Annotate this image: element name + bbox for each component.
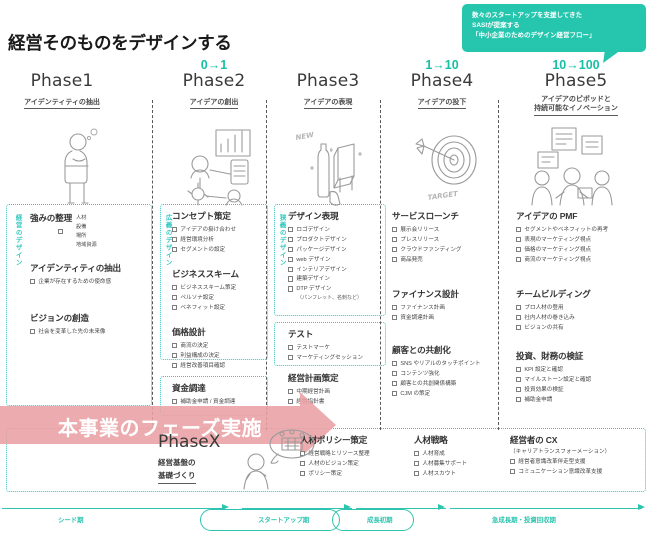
checkbox[interactable]: [288, 389, 293, 394]
check-label: 経営環境分析: [180, 236, 214, 244]
checkbox[interactable]: [288, 276, 293, 281]
block-phase4-finance: ファイナンス設計 ファイナンス計画 資金調達計画: [392, 288, 459, 324]
phase-subtitle-5-line-2: 持続可能なイノベーション: [534, 104, 618, 113]
phase-header-5: 10→100 Phase5 アイデアのピボッドと 持続可能なイノベーション: [506, 58, 646, 116]
target-icon: TARGET: [412, 126, 486, 208]
checkbox[interactable]: [172, 295, 177, 300]
checkbox[interactable]: [392, 247, 397, 252]
checkbox[interactable]: [172, 237, 177, 242]
check-label: 人材スカウト: [422, 470, 456, 478]
phase-name-5: Phase5: [506, 73, 646, 91]
check-label: 価格のマーケティング視点: [524, 246, 591, 254]
column-divider-4: [498, 100, 499, 430]
block-phase2-pricing: 価格設計 商流の決定 利益構成の決定 経営改善項目確認: [172, 326, 225, 372]
check-label: 商流のマーケティング視点: [524, 256, 591, 264]
phase-header-3: - Phase3 アイデアの表現: [272, 58, 384, 109]
block-phase3-test: テスト テストマーケ マーケティングセッション: [288, 328, 363, 364]
checkbox[interactable]: [172, 247, 177, 252]
phase-name-x: PhaseX: [158, 432, 220, 452]
check-label: セグメントやベネフィットの再考: [524, 226, 608, 234]
checkbox[interactable]: [30, 279, 35, 284]
block-phase1-identity: アイデンティティの抽出 企業が存在するための使命感: [30, 262, 150, 288]
callout-line-2: SASIが提案する: [472, 21, 638, 31]
block-heading: 経営者の CX: [510, 434, 610, 446]
check-label: 資金調達計画: [400, 314, 434, 322]
block-heading: チームビルディング: [516, 288, 591, 300]
check-label: CJM の策定: [400, 390, 430, 398]
block-heading: ビジネススキーム: [172, 268, 239, 280]
block-heading: 強みの整理: [30, 212, 72, 224]
block-heading: 資金調達: [172, 382, 235, 394]
block-phase2-scheme: ビジネススキーム ビジネススキーム策定 ペルソナ設定 ベネフィット設定: [172, 268, 239, 314]
check-label: マーケティングセッション: [296, 354, 363, 362]
checkbox[interactable]: [516, 315, 521, 320]
block-heading: 投資、財務の検証: [516, 350, 591, 362]
checkbox[interactable]: [392, 315, 397, 320]
block-heading: アイデアの PMF: [516, 210, 608, 222]
timeline-stage-2: スタートアップ期: [258, 515, 309, 524]
check-label: インテリアデザイン: [296, 266, 346, 274]
block-heading: テスト: [288, 328, 363, 340]
checkbox[interactable]: [516, 237, 521, 242]
block-note: （キャリアトランスフォーメーション）: [510, 447, 610, 455]
block-phase2-funding: 資金調達 補助金申請 / 資金調達: [172, 382, 235, 408]
check-label: 企業が存在するための使命感: [38, 278, 111, 286]
checkbox[interactable]: [172, 343, 177, 348]
checkbox[interactable]: [288, 267, 293, 272]
person-thinking-icon: [52, 126, 112, 208]
business-scheme-icon: [186, 126, 256, 208]
block-phase1-vision: ビジョンの創造 社会を変革した先の未来像: [30, 312, 150, 338]
check-label: パッケージデザイン: [296, 246, 346, 254]
check-label: ペルソナ設定: [180, 294, 214, 302]
svg-text:TARGET: TARGET: [427, 190, 459, 202]
checkbox[interactable]: [288, 237, 293, 242]
check-label: ベネフィット設定: [180, 304, 225, 312]
checkbox[interactable]: [414, 451, 419, 456]
check-label: プロ人材の登用: [524, 304, 563, 312]
block-heading: 人材戦略: [414, 434, 467, 446]
block-hr-strategy: 人材戦略 人材育成 人材募集サポート 人材スカウト: [414, 434, 467, 480]
checkbox[interactable]: [288, 247, 293, 252]
phase-name-2: Phase2: [158, 73, 270, 91]
check-label: ビジョンの共有: [524, 324, 563, 332]
checkbox[interactable]: [516, 325, 521, 330]
checkbox[interactable]: [392, 257, 397, 262]
checkbox[interactable]: [516, 227, 521, 232]
check-label: プロダクトデザイン: [296, 236, 346, 244]
check-label: コミュニケーション意識改革支援: [518, 468, 602, 476]
plain-item: 設備: [76, 223, 97, 232]
check-label: 展示会リリース: [400, 226, 439, 234]
phase-subtitle-1: アイデンティティの抽出: [24, 98, 100, 109]
check-label: 商品発売: [400, 256, 422, 264]
check-label: KPI 設定と確認: [524, 366, 563, 374]
block-heading: コンセプト策定: [172, 210, 236, 222]
checkbox[interactable]: [414, 461, 419, 466]
phase-name-4: Phase4: [386, 73, 498, 91]
checkbox[interactable]: [172, 305, 177, 310]
check-label: 投資効果の検証: [524, 386, 563, 394]
phase-header-1: - Phase1 アイデンティティの抽出: [6, 58, 118, 109]
callout-line-3: 「中小企業のためのデザイン経営フロー」: [472, 31, 638, 41]
checkbox[interactable]: [392, 361, 397, 366]
check-label: コンテンツ強化: [400, 370, 439, 378]
check-label: ファイナンス計画: [400, 304, 445, 312]
phase-subtitle-x-line-2: 基礎づくり: [158, 469, 196, 482]
check-label: 顧客との共創関係構築: [400, 380, 456, 388]
phase-subtitle-5-line-1: アイデアのピボッドと: [534, 95, 618, 104]
check-label: SNS やリアルのタッチポイント: [400, 360, 480, 368]
page-title: 経営そのものをデザインする: [8, 30, 232, 55]
callout-line-1: 数々のスタートアップを支援してきた: [472, 11, 638, 21]
block-phase4-cocreation: 顧客との共創化 SNS やリアルのタッチポイント コンテンツ強化 顧客との共創関…: [392, 344, 481, 400]
checkbox[interactable]: [172, 353, 177, 358]
check-label: ビジネススキーム策定: [180, 284, 236, 292]
phase-header-2: 0→1 Phase2 アイデアの創出: [158, 58, 270, 109]
checkbox[interactable]: [172, 227, 177, 232]
checkbox[interactable]: [516, 305, 521, 310]
check-label: テストマーケ: [296, 344, 330, 352]
checkbox[interactable]: [288, 399, 293, 404]
new-product-icon: NEW: [296, 126, 368, 208]
checkbox[interactable]: [288, 257, 293, 262]
check-label: web デザイン: [296, 256, 330, 264]
checkbox[interactable]: [288, 227, 293, 232]
phase-subtitle-x: 経営基盤の 基礎づくり: [158, 456, 196, 484]
svg-text:NEW: NEW: [295, 131, 315, 142]
checkbox[interactable]: [516, 387, 521, 392]
block-phase3-design: デザイン表現 ロゴデザイン プロダクトデザイン パッケージデザイン web デザ…: [288, 210, 362, 301]
checkbox[interactable]: [30, 329, 35, 334]
phase-subtitle-x-line-1: 経営基盤の: [158, 456, 196, 469]
block-heading: サービスローンチ: [392, 210, 462, 222]
callout-box: 数々のスタートアップを支援してきた SASIが提案する 「中小企業のためのデザイ…: [462, 4, 646, 52]
timeline-arrow-4: [638, 504, 645, 510]
check-label: 社会を変革した先の未来像: [38, 328, 105, 336]
checkbox[interactable]: [288, 355, 293, 360]
check-label: 表現のマーケティング視点: [524, 236, 591, 244]
block-phase2-concept: コンセプト策定 アイデアの掛け合わせ 経営環境分析 セグメントの設定: [172, 210, 236, 256]
checkbox[interactable]: [392, 305, 397, 310]
check-label: クラウドファンディング: [400, 246, 461, 254]
timeline-line-2: [242, 508, 352, 509]
check-label: 人材募集サポート: [422, 460, 467, 468]
timeline-stage-4: 急成長期・投資回収期: [492, 515, 556, 524]
checkbox[interactable]: [414, 471, 419, 476]
block-phase5-pmf: アイデアの PMF セグメントやベネフィットの再考 表現のマーケティング視点 価…: [516, 210, 608, 266]
timeline-stage-3: 成長初期: [367, 515, 393, 524]
block-ceo-cx: 経営者の CX （キャリアトランスフォーメーション） 経営者意識改革伴走型支援 …: [510, 434, 610, 478]
timeline-line-1: [2, 508, 224, 509]
plain-item: 場所: [76, 232, 97, 241]
check-label: 商流の決定: [180, 342, 208, 350]
check-label: セグメントの設定: [180, 246, 225, 254]
block-heading: 経営計画策定: [288, 372, 338, 384]
checkbox[interactable]: [516, 247, 521, 252]
block-heading: ビジョンの創造: [30, 312, 150, 324]
check-label: DTP デザイン: [296, 285, 331, 293]
timeline-stage-1: シード期: [58, 515, 84, 524]
checkbox[interactable]: [516, 377, 521, 382]
block-heading: アイデンティティの抽出: [30, 262, 150, 274]
checkbox[interactable]: [516, 397, 521, 402]
team-discussion-icon: [524, 126, 624, 208]
check-label: アイデアの掛け合わせ: [180, 226, 236, 234]
checkbox[interactable]: [516, 257, 521, 262]
phase-subtitle-4: アイデアの投下: [418, 98, 467, 109]
checkbox[interactable]: [172, 285, 177, 290]
phase-name-1: Phase1: [6, 73, 118, 91]
check-label: 経営改善項目確認: [180, 362, 225, 370]
block-heading: 価格設計: [172, 326, 225, 338]
timeline-line-4: [450, 508, 642, 509]
timeline-arrow-3: [438, 504, 445, 510]
plain-item: 地域資源: [76, 241, 97, 250]
checkbox[interactable]: [510, 469, 515, 474]
block-note: （パンフレット、名刺など）: [288, 294, 362, 301]
block-heading: ファイナンス設計: [392, 288, 459, 300]
check-label: 社内人材の巻き込み: [524, 314, 574, 322]
block-heading: デザイン表現: [288, 210, 362, 222]
column-divider-1: [152, 100, 153, 430]
person-idea-icon: [238, 428, 318, 490]
check-label: 経営者意識改革伴走型支援: [518, 458, 585, 466]
phase-subtitle-5: アイデアのピボッドと 持続可能なイノベーション: [534, 95, 618, 116]
checkbox[interactable]: [516, 367, 521, 372]
checkbox[interactable]: [172, 363, 177, 368]
checkbox[interactable]: [392, 227, 397, 232]
checkbox[interactable]: [172, 399, 177, 404]
phase-name-3: Phase3: [272, 73, 384, 91]
plain-item: 人材: [76, 214, 97, 223]
check-label: 人材育成: [422, 450, 444, 458]
checkbox[interactable]: [510, 459, 515, 464]
checkbox[interactable]: [392, 371, 397, 376]
check-label: ロゴデザイン: [296, 226, 330, 234]
timeline-line-3: [356, 508, 446, 509]
block-heading: 顧客との共創化: [392, 344, 481, 356]
check-label: プレスリリース: [400, 236, 439, 244]
block-phase5-investment: 投資、財務の検証 KPI 設定と確認 マイルストーン設定と確認 投資効果の検証 …: [516, 350, 591, 406]
check-label: 補助金申請: [524, 396, 552, 404]
check-label: 利益構成の決定: [180, 352, 219, 360]
block-phase1-strengths: 強みの整理 人材 設備 場所 地域資源: [30, 212, 150, 250]
block-phase4-launch: サービスローンチ 展示会リリース プレスリリース クラウドファンディング 商品発…: [392, 210, 462, 266]
checkbox[interactable]: [58, 229, 63, 234]
checkbox[interactable]: [392, 381, 397, 386]
checkbox[interactable]: [392, 237, 397, 242]
phase-subtitle-3: アイデアの表現: [304, 98, 353, 109]
check-label: 建築デザイン: [296, 275, 330, 283]
checkbox[interactable]: [392, 391, 397, 396]
checkbox[interactable]: [288, 345, 293, 350]
checkbox[interactable]: [288, 286, 293, 291]
block-phase5-team: チームビルディング プロ人材の登用 社内人材の巻き込み ビジョンの共有: [516, 288, 591, 334]
check-label: マイルストーン設定と確認: [524, 376, 591, 384]
phase-header-4: 1→10 Phase4 アイデアの投下: [386, 58, 498, 109]
phase-subtitle-2: アイデアの創出: [190, 98, 239, 109]
